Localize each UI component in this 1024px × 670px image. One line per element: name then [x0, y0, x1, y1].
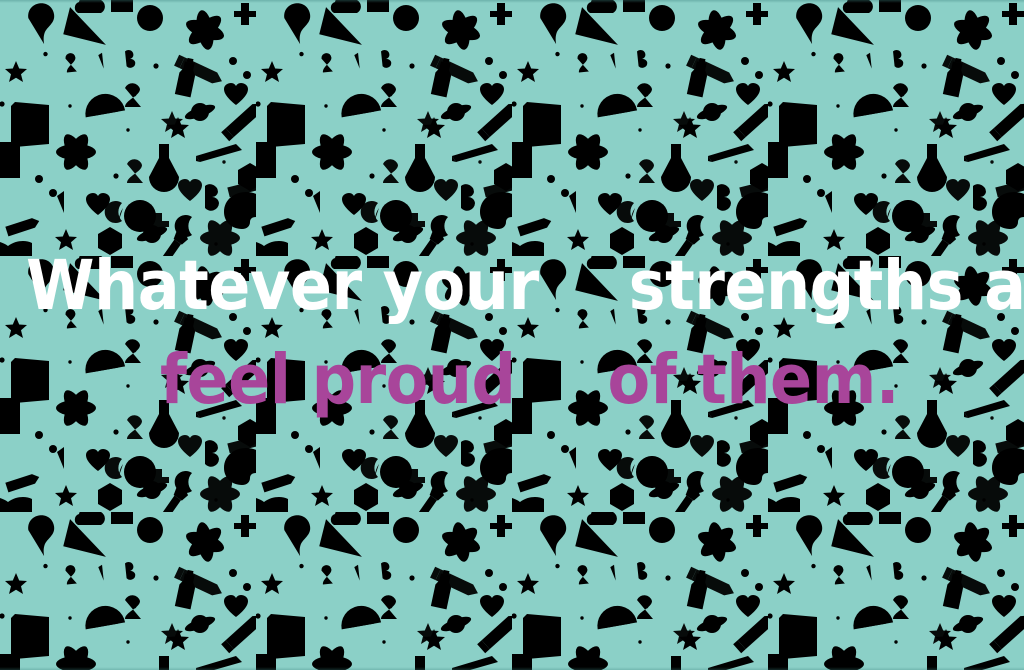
- quote-segment-of-them: of them.: [607, 340, 899, 420]
- quote-line-primary: Whatever your strengths are,: [0, 246, 1024, 326]
- quote-text-block: Whatever your strengths are, feel proud …: [0, 246, 1024, 420]
- quote-segment-feel-proud: feel proud: [160, 340, 515, 420]
- quote-line-secondary: feel proud of them.: [0, 340, 1024, 420]
- quote-card: Whatever your strengths are, feel proud …: [0, 0, 1024, 670]
- quote-segment-whatever-your: Whatever your: [26, 246, 539, 326]
- top-edge-shade: [0, 0, 1024, 3]
- quote-segment-strengths-are: strengths are,: [629, 246, 1024, 326]
